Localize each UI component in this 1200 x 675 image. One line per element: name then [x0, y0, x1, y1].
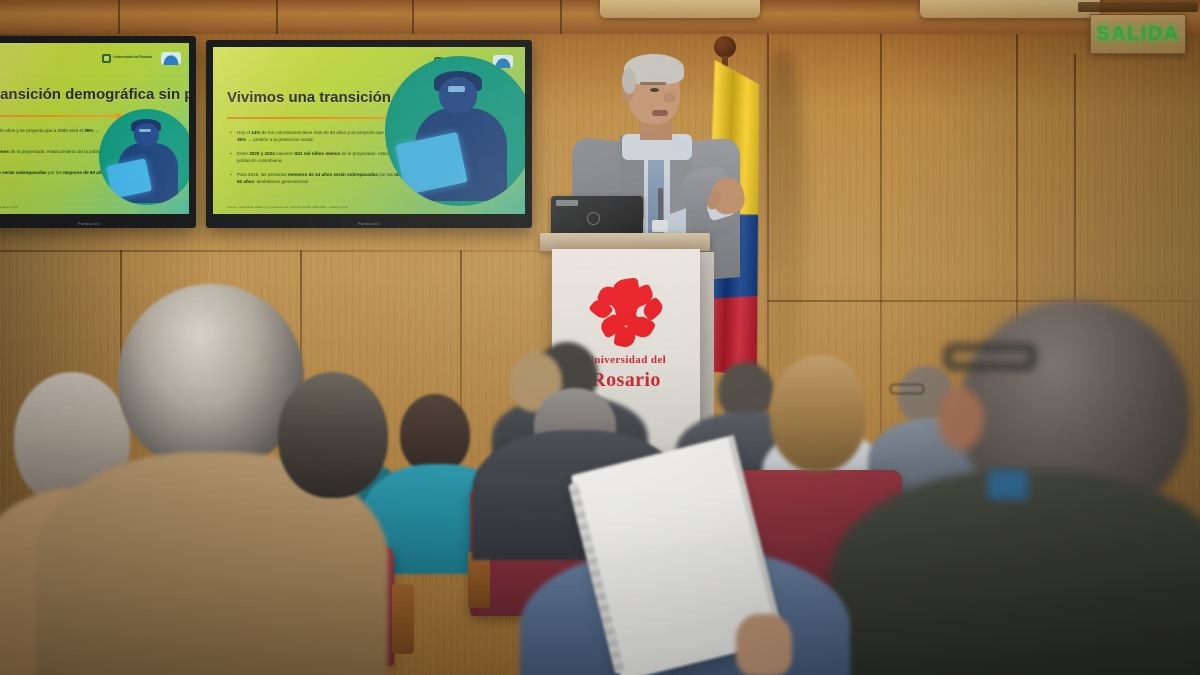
- ceiling-light-panel: [600, 0, 760, 18]
- slide-title: Vivimos una transición demográfica sin p…: [0, 86, 189, 103]
- hand-holding-notepad: [736, 614, 792, 675]
- right-display-brand: Panasonic: [358, 221, 380, 226]
- eyeglasses-icon: [944, 344, 1036, 370]
- partner-logo-icon: Javeriana: [161, 52, 181, 65]
- speaker-mouth: [652, 110, 668, 116]
- eyeglasses-icon: [890, 384, 924, 394]
- slide-photo-circle: [99, 109, 189, 205]
- wall-panel-seam: [880, 34, 882, 434]
- slide-title-underline: [0, 115, 117, 117]
- rosario-logo-caption: Universidad del Rosario: [113, 56, 152, 60]
- photo-person-head: [134, 123, 159, 146]
- photo-person-head: [439, 77, 478, 113]
- slide-source-footer: Fuente: estadísticas vitales y proyeccio…: [227, 205, 348, 209]
- bullet-marker-icon: ▪: [230, 129, 232, 143]
- speaker-lanyard: [658, 188, 663, 222]
- slide-left: Universidad del Rosario Javeriana Vivimo…: [0, 43, 189, 214]
- seat-armrest: [468, 552, 490, 608]
- door-header-trim: [1078, 2, 1198, 12]
- right-display: Universidad del Rosario Javeriana Vivimo…: [206, 40, 532, 228]
- photo-person-glasses: [448, 86, 466, 92]
- slide-bullet: ▪ Hoy el 14% de los colombianos tiene má…: [0, 127, 109, 141]
- laptop-sticker: [556, 200, 578, 206]
- slide-bullet: ▪ Para 2045, las personas menores de 14 …: [230, 171, 423, 185]
- ceiling-seam: [118, 0, 120, 34]
- slide-photo-circle: [385, 56, 525, 206]
- wall-panel-seam: [0, 250, 540, 252]
- speaker-eye: [650, 88, 659, 92]
- left-display: Universidad del Rosario Javeriana Vivimo…: [0, 36, 196, 228]
- slide-bullet-list: ▪ Hoy el 14% de los colombianos tiene má…: [0, 127, 109, 191]
- slide-bullet: ▪ Entre 2020 y 2024 nacieron 841 mil niñ…: [0, 148, 109, 162]
- audience-head: [278, 372, 388, 498]
- seat-armrest: [392, 584, 414, 654]
- speaker-badge-card: [652, 220, 668, 232]
- left-display-brand: Panasonic: [78, 221, 100, 226]
- slide-source-footer: Fuente: estadísticas vitales y proyeccio…: [0, 205, 18, 209]
- bullet-marker-icon: ▪: [230, 171, 232, 185]
- flag-finial: [714, 36, 736, 58]
- universidad-del-rosario-logo: Universidad del Rosario: [102, 54, 152, 63]
- slide-bullet: ▪ Para 2045, las personas menores de 14 …: [0, 169, 109, 183]
- podium-logo-line2: Rosario: [591, 370, 660, 390]
- audience-head: [118, 284, 304, 470]
- speaker-sideburn: [622, 68, 636, 94]
- speaker-nose: [664, 93, 676, 103]
- speaker-eyebrow: [640, 82, 666, 85]
- bullet-marker-icon: ▪: [230, 150, 232, 164]
- ceiling-seam: [560, 0, 562, 34]
- laptop: [551, 196, 643, 238]
- rosario-crest-icon: [587, 279, 665, 351]
- rosario-crest-icon: [102, 54, 111, 63]
- podium-logo-line1: Universidad del: [586, 355, 666, 366]
- slide-right: Universidad del Rosario Javeriana Vivimo…: [213, 47, 525, 214]
- audience-head: [770, 356, 866, 472]
- flag-wall-shadow: [760, 50, 804, 380]
- ceiling-light-panel: [920, 0, 1100, 18]
- dell-logo-icon: [587, 212, 600, 225]
- auditorium-scene: SALIDA Universidad del Rosario Javeriana…: [0, 0, 1200, 675]
- slide-logos: Universidad del Rosario Javeriana: [102, 52, 181, 65]
- audience-ear: [938, 388, 984, 450]
- partner-logo-caption: Javeriana: [161, 61, 181, 64]
- exit-sign-label: SALIDA: [1096, 24, 1179, 44]
- photo-person-glasses: [139, 129, 151, 133]
- jacket-logo-patch: [988, 470, 1028, 500]
- ceiling-seam: [276, 0, 278, 34]
- audience-shoulders: [830, 470, 1200, 675]
- audience-head: [400, 394, 470, 474]
- ceiling-seam: [412, 0, 414, 34]
- exit-sign: SALIDA: [1090, 14, 1186, 54]
- wall-panel-seam: [767, 300, 1200, 302]
